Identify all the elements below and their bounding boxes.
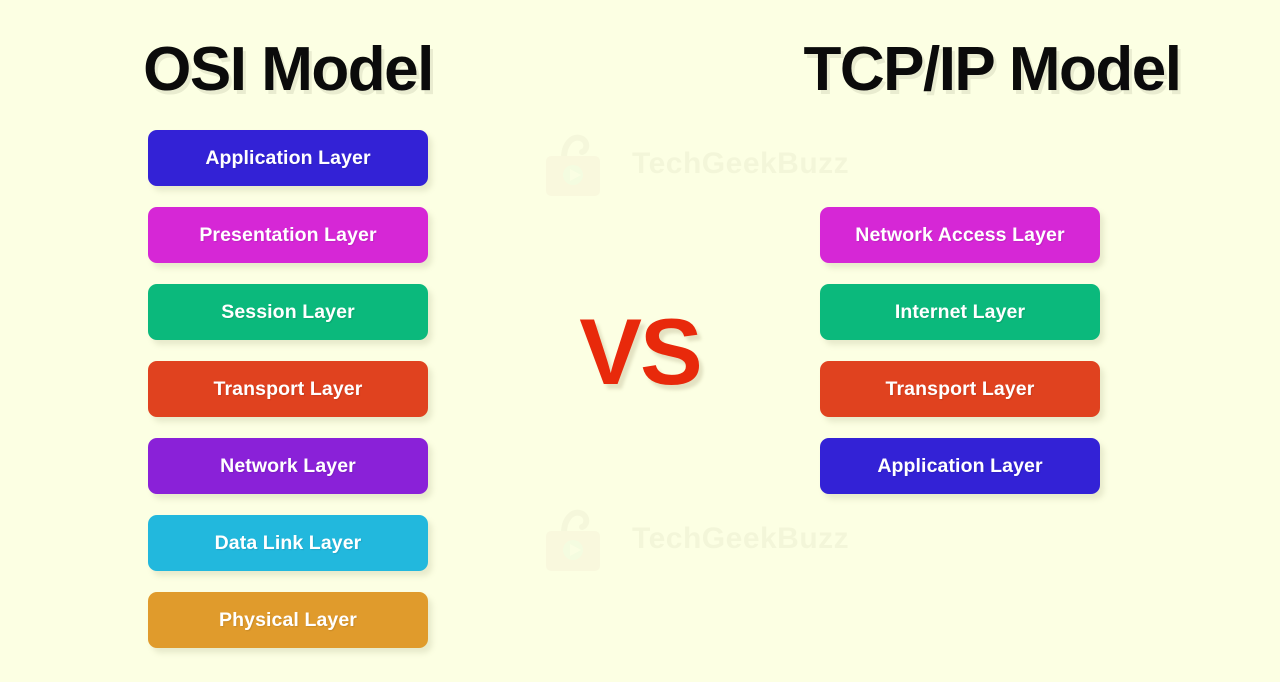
tcpip-layer-label: Network Access Layer: [855, 224, 1064, 247]
osi-layer-label: Physical Layer: [219, 609, 357, 632]
osi-layer-bar[interactable]: Presentation Layer: [148, 207, 428, 263]
tcpip-layer-bar[interactable]: Transport Layer: [820, 361, 1100, 417]
osi-layer-stack: Application Layer Presentation Layer Ses…: [148, 130, 428, 648]
tcpip-model-title: TCP/IP Model: [704, 34, 1280, 105]
tcpip-layer-bar[interactable]: Application Layer: [820, 438, 1100, 494]
techgeekbuzz-logo-icon: [538, 128, 610, 200]
osi-layer-label: Presentation Layer: [199, 224, 376, 247]
osi-layer-bar[interactable]: Application Layer: [148, 130, 428, 186]
tcpip-layer-label: Application Layer: [877, 455, 1042, 478]
tcpip-layer-label: Internet Layer: [895, 301, 1025, 324]
watermark-top: TechGeekBuzz: [538, 128, 849, 200]
osi-layer-bar[interactable]: Transport Layer: [148, 361, 428, 417]
tcpip-layer-stack: Network Access Layer Internet Layer Tran…: [820, 207, 1100, 494]
osi-layer-label: Session Layer: [221, 301, 355, 324]
osi-layer-bar[interactable]: Data Link Layer: [148, 515, 428, 571]
tcpip-layer-bar[interactable]: Network Access Layer: [820, 207, 1100, 263]
osi-layer-label: Transport Layer: [214, 378, 363, 401]
techgeekbuzz-logo-icon: [538, 503, 610, 575]
osi-layer-bar[interactable]: Physical Layer: [148, 592, 428, 648]
osi-layer-bar[interactable]: Network Layer: [148, 438, 428, 494]
tcpip-layer-bar[interactable]: Internet Layer: [820, 284, 1100, 340]
osi-layer-label: Application Layer: [205, 147, 370, 170]
osi-layer-label: Network Layer: [220, 455, 356, 478]
osi-model-title: OSI Model: [0, 34, 576, 105]
tcpip-layer-label: Transport Layer: [886, 378, 1035, 401]
osi-layer-label: Data Link Layer: [215, 532, 362, 555]
watermark-bottom: TechGeekBuzz: [538, 503, 849, 575]
infographic-canvas: TechGeekBuzz TechGeekBuzz OSI Model TCP/…: [0, 0, 1280, 682]
versus-label: VS: [568, 305, 712, 399]
watermark-text: TechGeekBuzz: [632, 147, 849, 181]
osi-layer-bar[interactable]: Session Layer: [148, 284, 428, 340]
watermark-text: TechGeekBuzz: [632, 522, 849, 556]
